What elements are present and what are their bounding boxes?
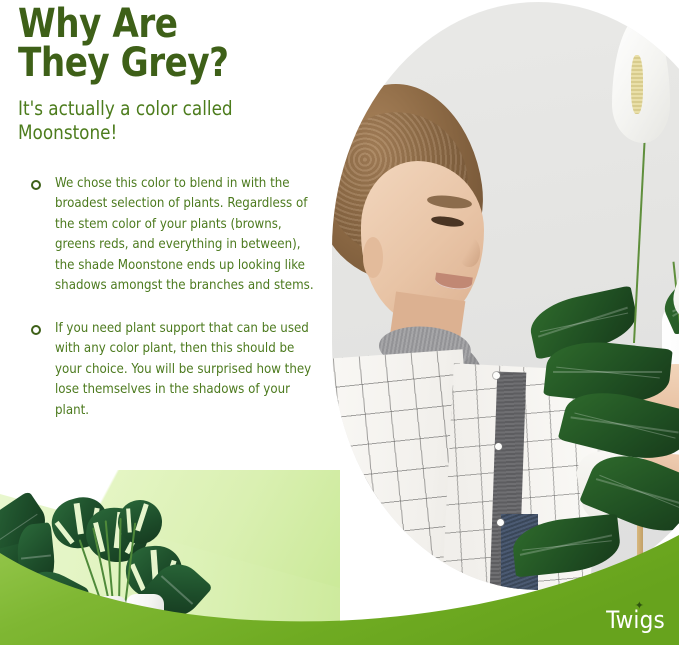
page-subtitle: It's actually a color called Moonstone! [18,97,272,145]
footer-curve-shape [0,535,679,645]
ring-bullet-icon [31,325,41,335]
coat-button [495,443,502,450]
page-title-line-2: They Grey? [18,40,229,86]
palm-frond [676,13,679,61]
list-item-text: If you need plant support that can be us… [55,318,317,421]
content-column: Why AreThey Grey? It's actually a color … [0,0,340,442]
list-item: We chose this color to blend in with the… [0,173,340,296]
hero-photo-circle [332,2,679,590]
flyer-page: Why AreThey Grey? It's actually a color … [0,0,679,645]
list-item: If you need plant support that can be us… [0,318,340,421]
hero-photo [332,2,679,590]
lily-flower-spadix [631,55,643,114]
list-item-text: We chose this color to blend in with the… [55,173,317,296]
woman-nose [460,237,481,266]
bullet-list: We chose this color to blend in with the… [0,173,340,421]
footer-band: Twigs ✦ [0,535,679,645]
ring-bullet-icon [31,180,41,190]
brand-star-icon: ✦ [635,601,644,612]
page-title: Why AreThey Grey? [18,5,275,83]
